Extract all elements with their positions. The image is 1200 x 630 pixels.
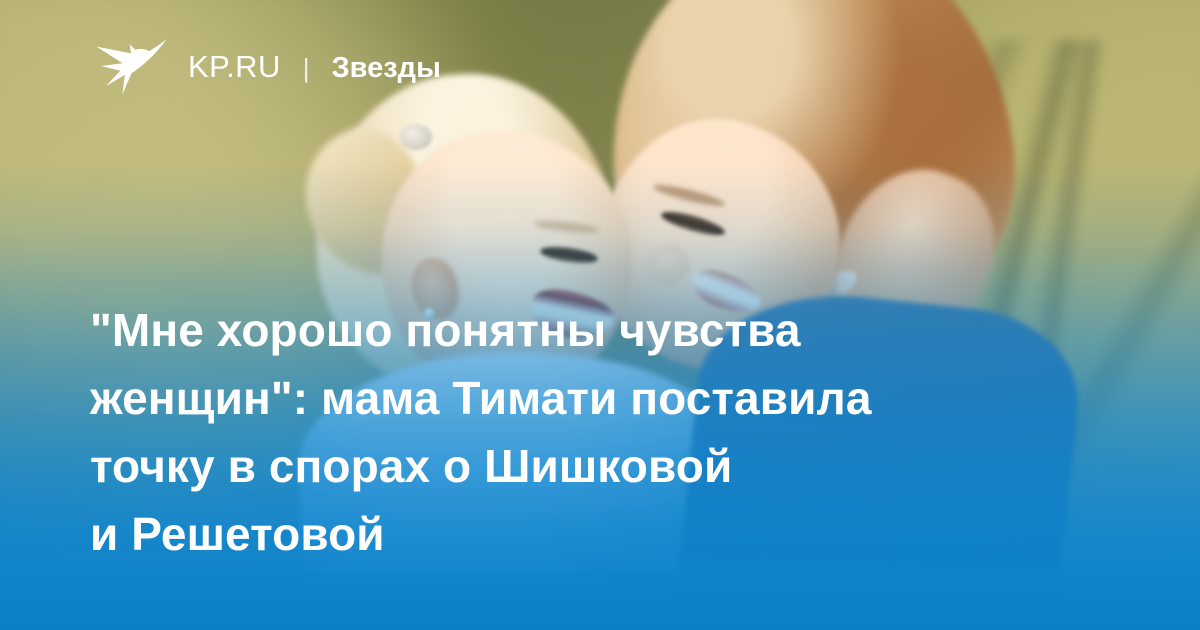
headline-line-4: и Решетовой — [90, 500, 1100, 568]
article-headline: "Мне хорошо понятны чувства женщин": мам… — [90, 296, 1100, 568]
social-share-card: KP.RU | Звезды "Мне хорошо понятны чувст… — [0, 0, 1200, 630]
brand-lockup: KP.RU | Звезды — [188, 51, 441, 83]
headline-line-3: точку в спорах о Шишковой — [90, 432, 1100, 500]
girl-hair-tie — [400, 124, 432, 150]
swallow-bird-icon[interactable] — [95, 36, 169, 98]
brand-separator: | — [303, 55, 310, 81]
woman-nose — [648, 244, 690, 284]
section-label-zvezdy[interactable]: Звезды — [332, 54, 441, 83]
headline-line-1: "Мне хорошо понятны чувства — [90, 296, 1100, 364]
site-header: KP.RU | Звезды — [95, 36, 441, 98]
headline-line-2: женщин": мама Тимати поставила — [90, 364, 1100, 432]
brand-name[interactable]: KP.RU — [188, 51, 281, 82]
